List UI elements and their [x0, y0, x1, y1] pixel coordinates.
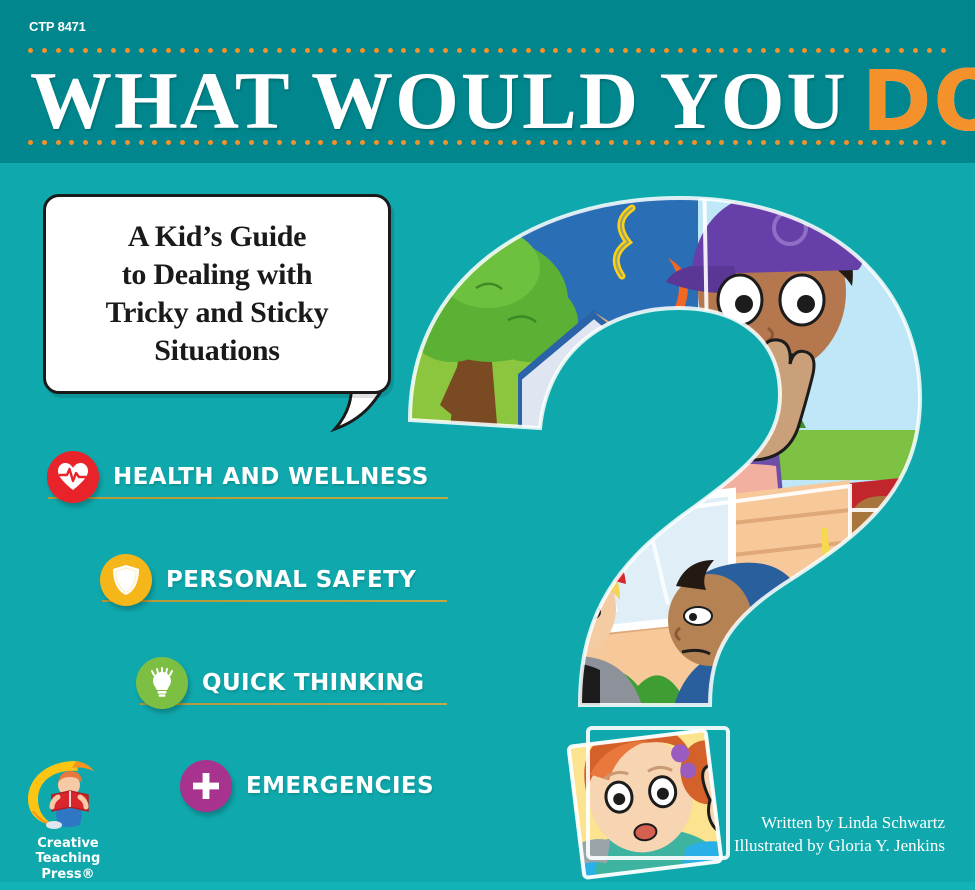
category-label-personal-safety: PERSONAL SAFETY [166, 567, 416, 593]
decorative-dot [56, 48, 61, 53]
decorative-dot [581, 140, 586, 145]
decorative-dot [789, 48, 794, 53]
decorative-dot [97, 140, 102, 145]
decorative-dot [858, 140, 863, 145]
decorative-dot [650, 48, 655, 53]
decorative-dot [332, 140, 337, 145]
decorative-dot [678, 48, 683, 53]
decorative-dot [42, 48, 47, 53]
page-title: WHAT WOULD YOU DO? [30, 55, 950, 147]
decorative-dot [567, 140, 572, 145]
decorative-dot [816, 48, 821, 53]
decorative-dot [83, 48, 88, 53]
decorative-dot [830, 140, 835, 145]
decorative-dot [623, 140, 628, 145]
decorative-dot [553, 140, 558, 145]
decorative-dot [305, 140, 310, 145]
decorative-dot [263, 140, 268, 145]
decorative-dot [388, 48, 393, 53]
decorative-dot [706, 48, 711, 53]
shield-icon [100, 554, 152, 606]
decorative-dot [208, 140, 213, 145]
decorative-dot [374, 140, 379, 145]
decorative-dot [747, 48, 752, 53]
decorative-dot [498, 140, 503, 145]
decorative-dot [360, 140, 365, 145]
decorative-dot [318, 140, 323, 145]
category-label-emergencies: EMERGENCIES [246, 773, 434, 799]
decorative-dot [457, 140, 462, 145]
decorative-dot [235, 140, 240, 145]
decorative-dot [318, 48, 323, 53]
decorative-dot [429, 48, 434, 53]
decorative-dot [664, 140, 669, 145]
decorative-dot [761, 48, 766, 53]
decorative-dot [540, 140, 545, 145]
header-band: CTP 8471 WHAT WOULD YOU DO? [0, 0, 975, 163]
publisher-logo[interactable]: Creative Teaching Press® [22, 757, 114, 882]
decorative-dot [401, 140, 406, 145]
decorative-dot [125, 48, 130, 53]
decorative-dot [692, 48, 697, 53]
decorative-dot [733, 48, 738, 53]
publisher-name-line-3: Press® [22, 867, 114, 882]
decorative-dot [471, 48, 476, 53]
decorative-dot [623, 48, 628, 53]
decorative-dot [692, 140, 697, 145]
decorative-dot [706, 140, 711, 145]
decorative-dot [388, 140, 393, 145]
heart-pulse-icon [47, 451, 99, 503]
category-label-quick-thinking: QUICK THINKING [202, 670, 424, 696]
decorative-dot [775, 48, 780, 53]
decorative-dot [913, 140, 918, 145]
decorative-dot [650, 140, 655, 145]
decorative-dot [581, 48, 586, 53]
decorative-dot [484, 140, 489, 145]
publisher-name-line-2: Teaching [22, 851, 114, 866]
decorative-dot [249, 48, 254, 53]
decorative-dot [69, 48, 74, 53]
dot-row-bottom [28, 140, 946, 149]
decorative-dot [111, 48, 116, 53]
decorative-dot [761, 140, 766, 145]
decorative-dot [802, 48, 807, 53]
decorative-dot [775, 140, 780, 145]
category-row-quick-thinking[interactable]: QUICK THINKING [0, 631, 470, 734]
decorative-dot [277, 48, 282, 53]
subtitle-line-2: to Dealing with [106, 256, 329, 294]
decorative-dot [111, 140, 116, 145]
decorative-dot [56, 140, 61, 145]
decorative-dot [802, 140, 807, 145]
decorative-dot [152, 140, 157, 145]
decorative-dot [291, 140, 296, 145]
product-code: CTP 8471 [29, 19, 86, 34]
moon-child-reading-logo [22, 757, 114, 829]
decorative-dot [941, 140, 946, 145]
decorative-dot [844, 140, 849, 145]
decorative-dot [567, 48, 572, 53]
decorative-dot [816, 140, 821, 145]
category-label-health-and-wellness: HEALTH AND WELLNESS [113, 464, 429, 490]
decorative-dot [152, 48, 157, 53]
decorative-dot [277, 140, 282, 145]
decorative-dot [733, 140, 738, 145]
decorative-dot [346, 48, 351, 53]
decorative-dot [291, 48, 296, 53]
decorative-dot [235, 48, 240, 53]
decorative-dot [139, 140, 144, 145]
decorative-dot [719, 140, 724, 145]
decorative-dot [678, 140, 683, 145]
decorative-dot [512, 140, 517, 145]
decorative-dot [166, 48, 171, 53]
decorative-dot [844, 48, 849, 53]
title-main-text: WHAT WOULD YOU [30, 60, 848, 142]
decorative-dot [415, 48, 420, 53]
decorative-dot [125, 140, 130, 145]
subtitle-line-4: Situations [106, 332, 329, 370]
decorative-dot [180, 140, 185, 145]
decorative-dot [415, 140, 420, 145]
decorative-dot [540, 48, 545, 53]
decorative-dot [872, 140, 877, 145]
decorative-dot [512, 48, 517, 53]
category-row-health-and-wellness[interactable]: HEALTH AND WELLNESS [0, 425, 470, 528]
decorative-dot [885, 140, 890, 145]
decorative-dot [249, 140, 254, 145]
decorative-dot [83, 140, 88, 145]
decorative-dot [139, 48, 144, 53]
decorative-dot [208, 48, 213, 53]
decorative-dot [360, 48, 365, 53]
publisher-name-line-1: Creative [22, 836, 114, 851]
subtitle-text: A Kid’s Guide to Dealing with Tricky and… [106, 218, 329, 370]
plus-cross-icon [180, 760, 232, 812]
decorative-dot [484, 48, 489, 53]
decorative-dot [166, 140, 171, 145]
decorative-dot [899, 140, 904, 145]
decorative-dot [471, 140, 476, 145]
decorative-dot [443, 140, 448, 145]
decorative-dot [222, 48, 227, 53]
written-by-credit: Written by Linda Schwartz [734, 812, 945, 835]
decorative-dot [429, 140, 434, 145]
decorative-dot [194, 140, 199, 145]
decorative-dot [747, 140, 752, 145]
decorative-dot [636, 140, 641, 145]
publisher-name: Creative Teaching Press® [22, 836, 114, 882]
book-cover: CTP 8471 WHAT WOULD YOU DO? A Kid’s Guid… [0, 0, 975, 890]
decorative-dot [42, 140, 47, 145]
decorative-dot [719, 48, 724, 53]
bottom-edge-strip [0, 882, 975, 890]
category-row-personal-safety[interactable]: PERSONAL SAFETY [0, 528, 470, 631]
decorative-dot [609, 140, 614, 145]
decorative-dot [609, 48, 614, 53]
decorative-dot [664, 48, 669, 53]
decorative-dot [830, 48, 835, 53]
illustrated-by-credit: Illustrated by Gloria Y. Jenkins [734, 835, 945, 858]
subtitle-line-3: Tricky and Sticky [106, 294, 329, 332]
decorative-dot [443, 48, 448, 53]
decorative-dot [305, 48, 310, 53]
decorative-dot [222, 140, 227, 145]
decorative-dot [498, 48, 503, 53]
decorative-dot [595, 48, 600, 53]
decorative-dot [263, 48, 268, 53]
decorative-dot [457, 48, 462, 53]
credits: Written by Linda Schwartz Illustrated by… [734, 812, 945, 857]
decorative-dot [526, 48, 531, 53]
decorative-dot [636, 48, 641, 53]
decorative-dot [374, 48, 379, 53]
title-accent-text: DO? [862, 59, 975, 143]
decorative-dot [69, 140, 74, 145]
decorative-dot [180, 48, 185, 53]
decorative-dot [927, 140, 932, 145]
decorative-dot [97, 48, 102, 53]
decorative-dot [28, 140, 33, 145]
decorative-dot [332, 48, 337, 53]
subtitle-line-1: A Kid’s Guide [106, 218, 329, 256]
subtitle-speech-bubble: A Kid’s Guide to Dealing with Tricky and… [43, 194, 391, 394]
decorative-dot [789, 140, 794, 145]
decorative-dot [553, 48, 558, 53]
decorative-dot [28, 48, 33, 53]
decorative-dot [401, 48, 406, 53]
decorative-dot [346, 140, 351, 145]
decorative-dot [526, 140, 531, 145]
decorative-dot [194, 48, 199, 53]
lightbulb-icon [136, 657, 188, 709]
decorative-dot [595, 140, 600, 145]
